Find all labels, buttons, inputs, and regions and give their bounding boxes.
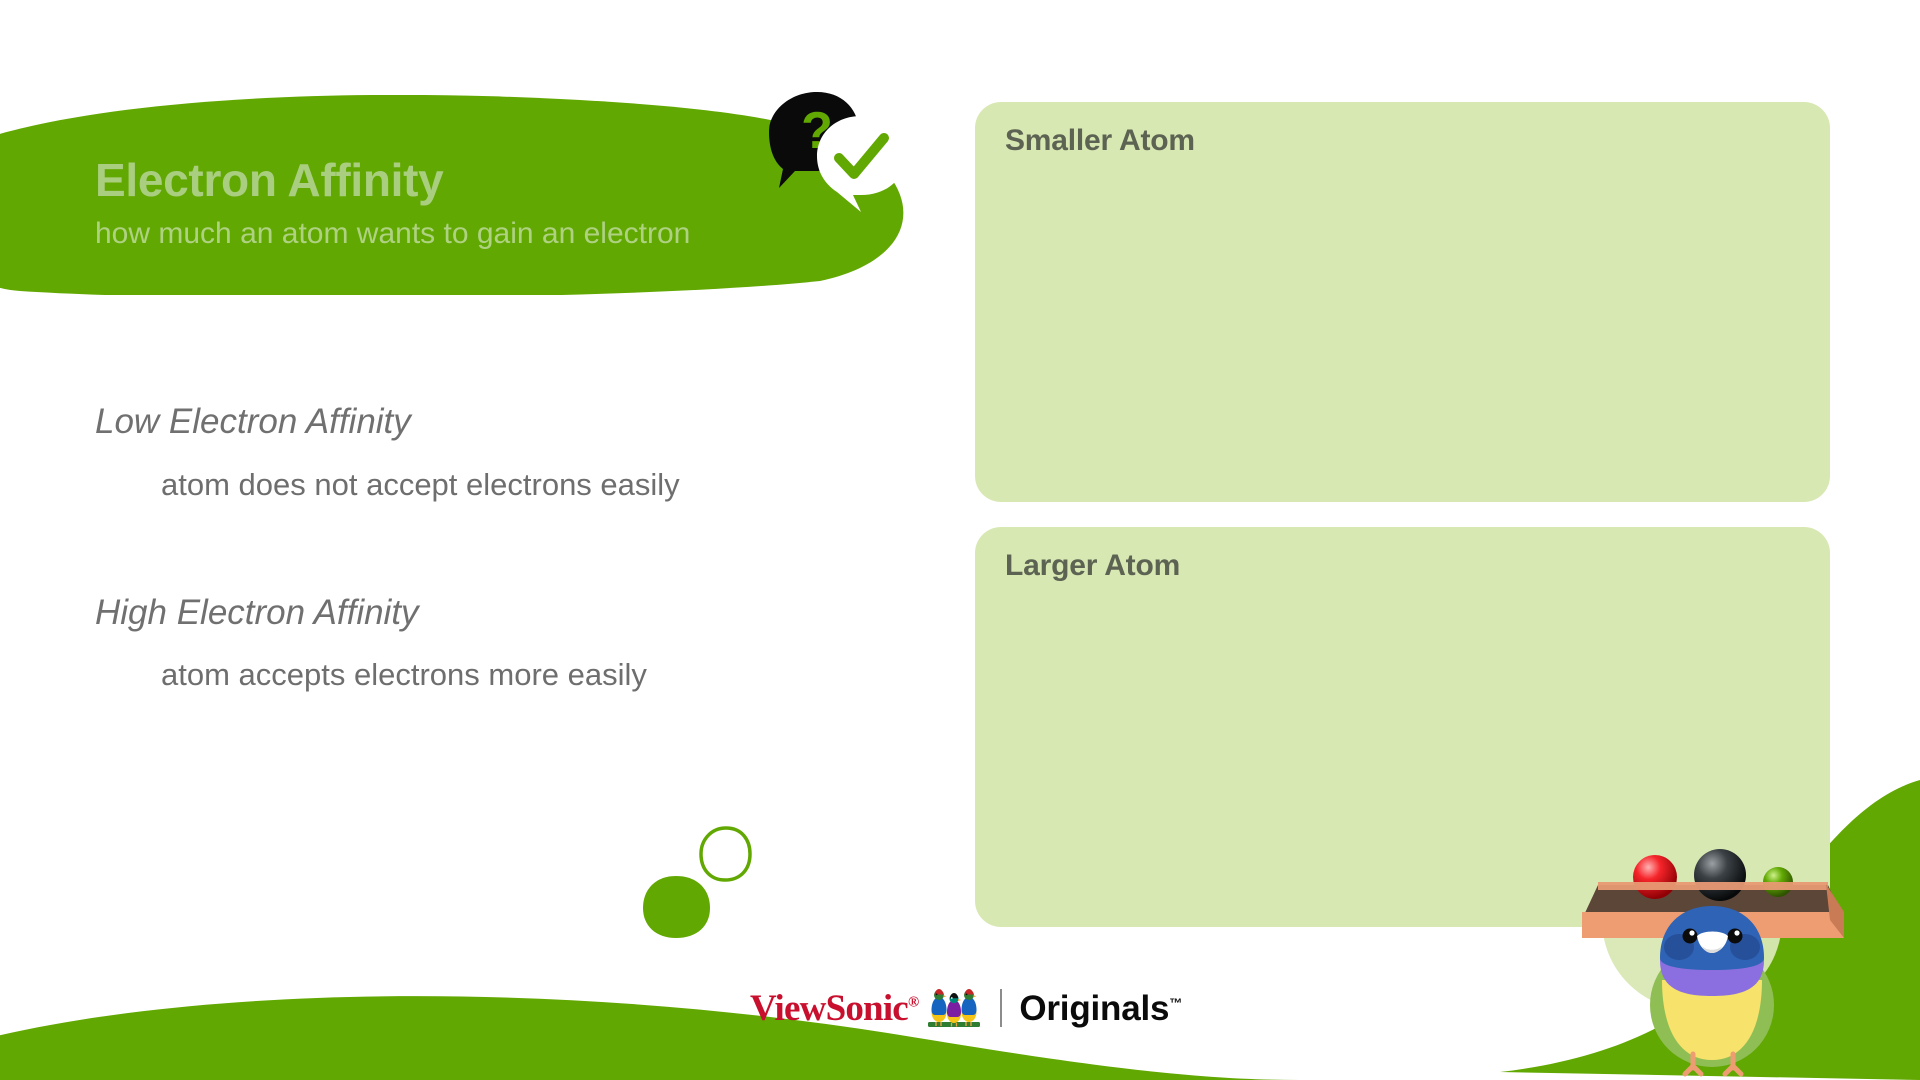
speech-bubbles-svg: ? xyxy=(765,88,910,213)
viewsonic-wordmark: ViewSonic® xyxy=(750,990,918,1027)
decorative-circles-svg xyxy=(640,820,770,950)
definition-description: atom accepts electrons more easily xyxy=(161,656,855,695)
page-title: Electron Affinity xyxy=(95,155,875,207)
definition-item-low: Low Electron Affinity atom does not acce… xyxy=(95,400,855,505)
gouldian-finch-birds-logo-icon xyxy=(925,986,983,1030)
definitions-spacer xyxy=(95,505,855,591)
check-bubble-icon xyxy=(817,116,906,212)
red-sphere-icon xyxy=(1633,855,1677,899)
title-text-group: Electron Affinity how much an atom wants… xyxy=(95,155,875,253)
panel-smaller-atom: Smaller Atom xyxy=(975,102,1830,502)
panel-title: Larger Atom xyxy=(1005,549,1180,583)
definition-term: High Electron Affinity xyxy=(95,591,855,635)
panel-title: Smaller Atom xyxy=(1005,124,1195,158)
branding-logo-row: ViewSonic® xyxy=(750,982,1182,1034)
black-sphere-icon xyxy=(1694,849,1746,901)
mascot-right-eye xyxy=(1728,929,1743,944)
bird-mascot-with-tray xyxy=(1580,820,1845,1080)
mascot-left-eye xyxy=(1683,929,1698,944)
filled-circle-decoration xyxy=(643,876,710,938)
definition-item-high: High Electron Affinity atom accepts elec… xyxy=(95,591,855,696)
viewsonic-wordmark-text: ViewSonic xyxy=(750,988,908,1029)
trademark-symbol: ™ xyxy=(1169,995,1182,1010)
mascot-bird-icon xyxy=(1650,906,1774,1074)
outlined-circle-decoration xyxy=(701,828,750,880)
birds-logo-svg xyxy=(925,986,983,1030)
definition-term: Low Electron Affinity xyxy=(95,400,855,444)
registered-trademark-symbol: ® xyxy=(908,994,918,1010)
speech-bubbles-group: ? xyxy=(765,88,910,213)
definition-description: atom does not accept electrons easily xyxy=(161,466,855,505)
logo-divider xyxy=(1000,989,1002,1027)
definitions-list: Low Electron Affinity atom does not acce… xyxy=(95,400,855,695)
slide-canvas: Electron Affinity how much an atom wants… xyxy=(0,0,1920,1080)
decorative-circles-group xyxy=(640,820,770,950)
page-subtitle: how much an atom wants to gain an electr… xyxy=(95,214,875,253)
originals-wordmark: Originals™ xyxy=(1019,991,1182,1026)
mascot-svg xyxy=(1580,820,1845,1080)
originals-wordmark-text: Originals xyxy=(1019,989,1169,1028)
